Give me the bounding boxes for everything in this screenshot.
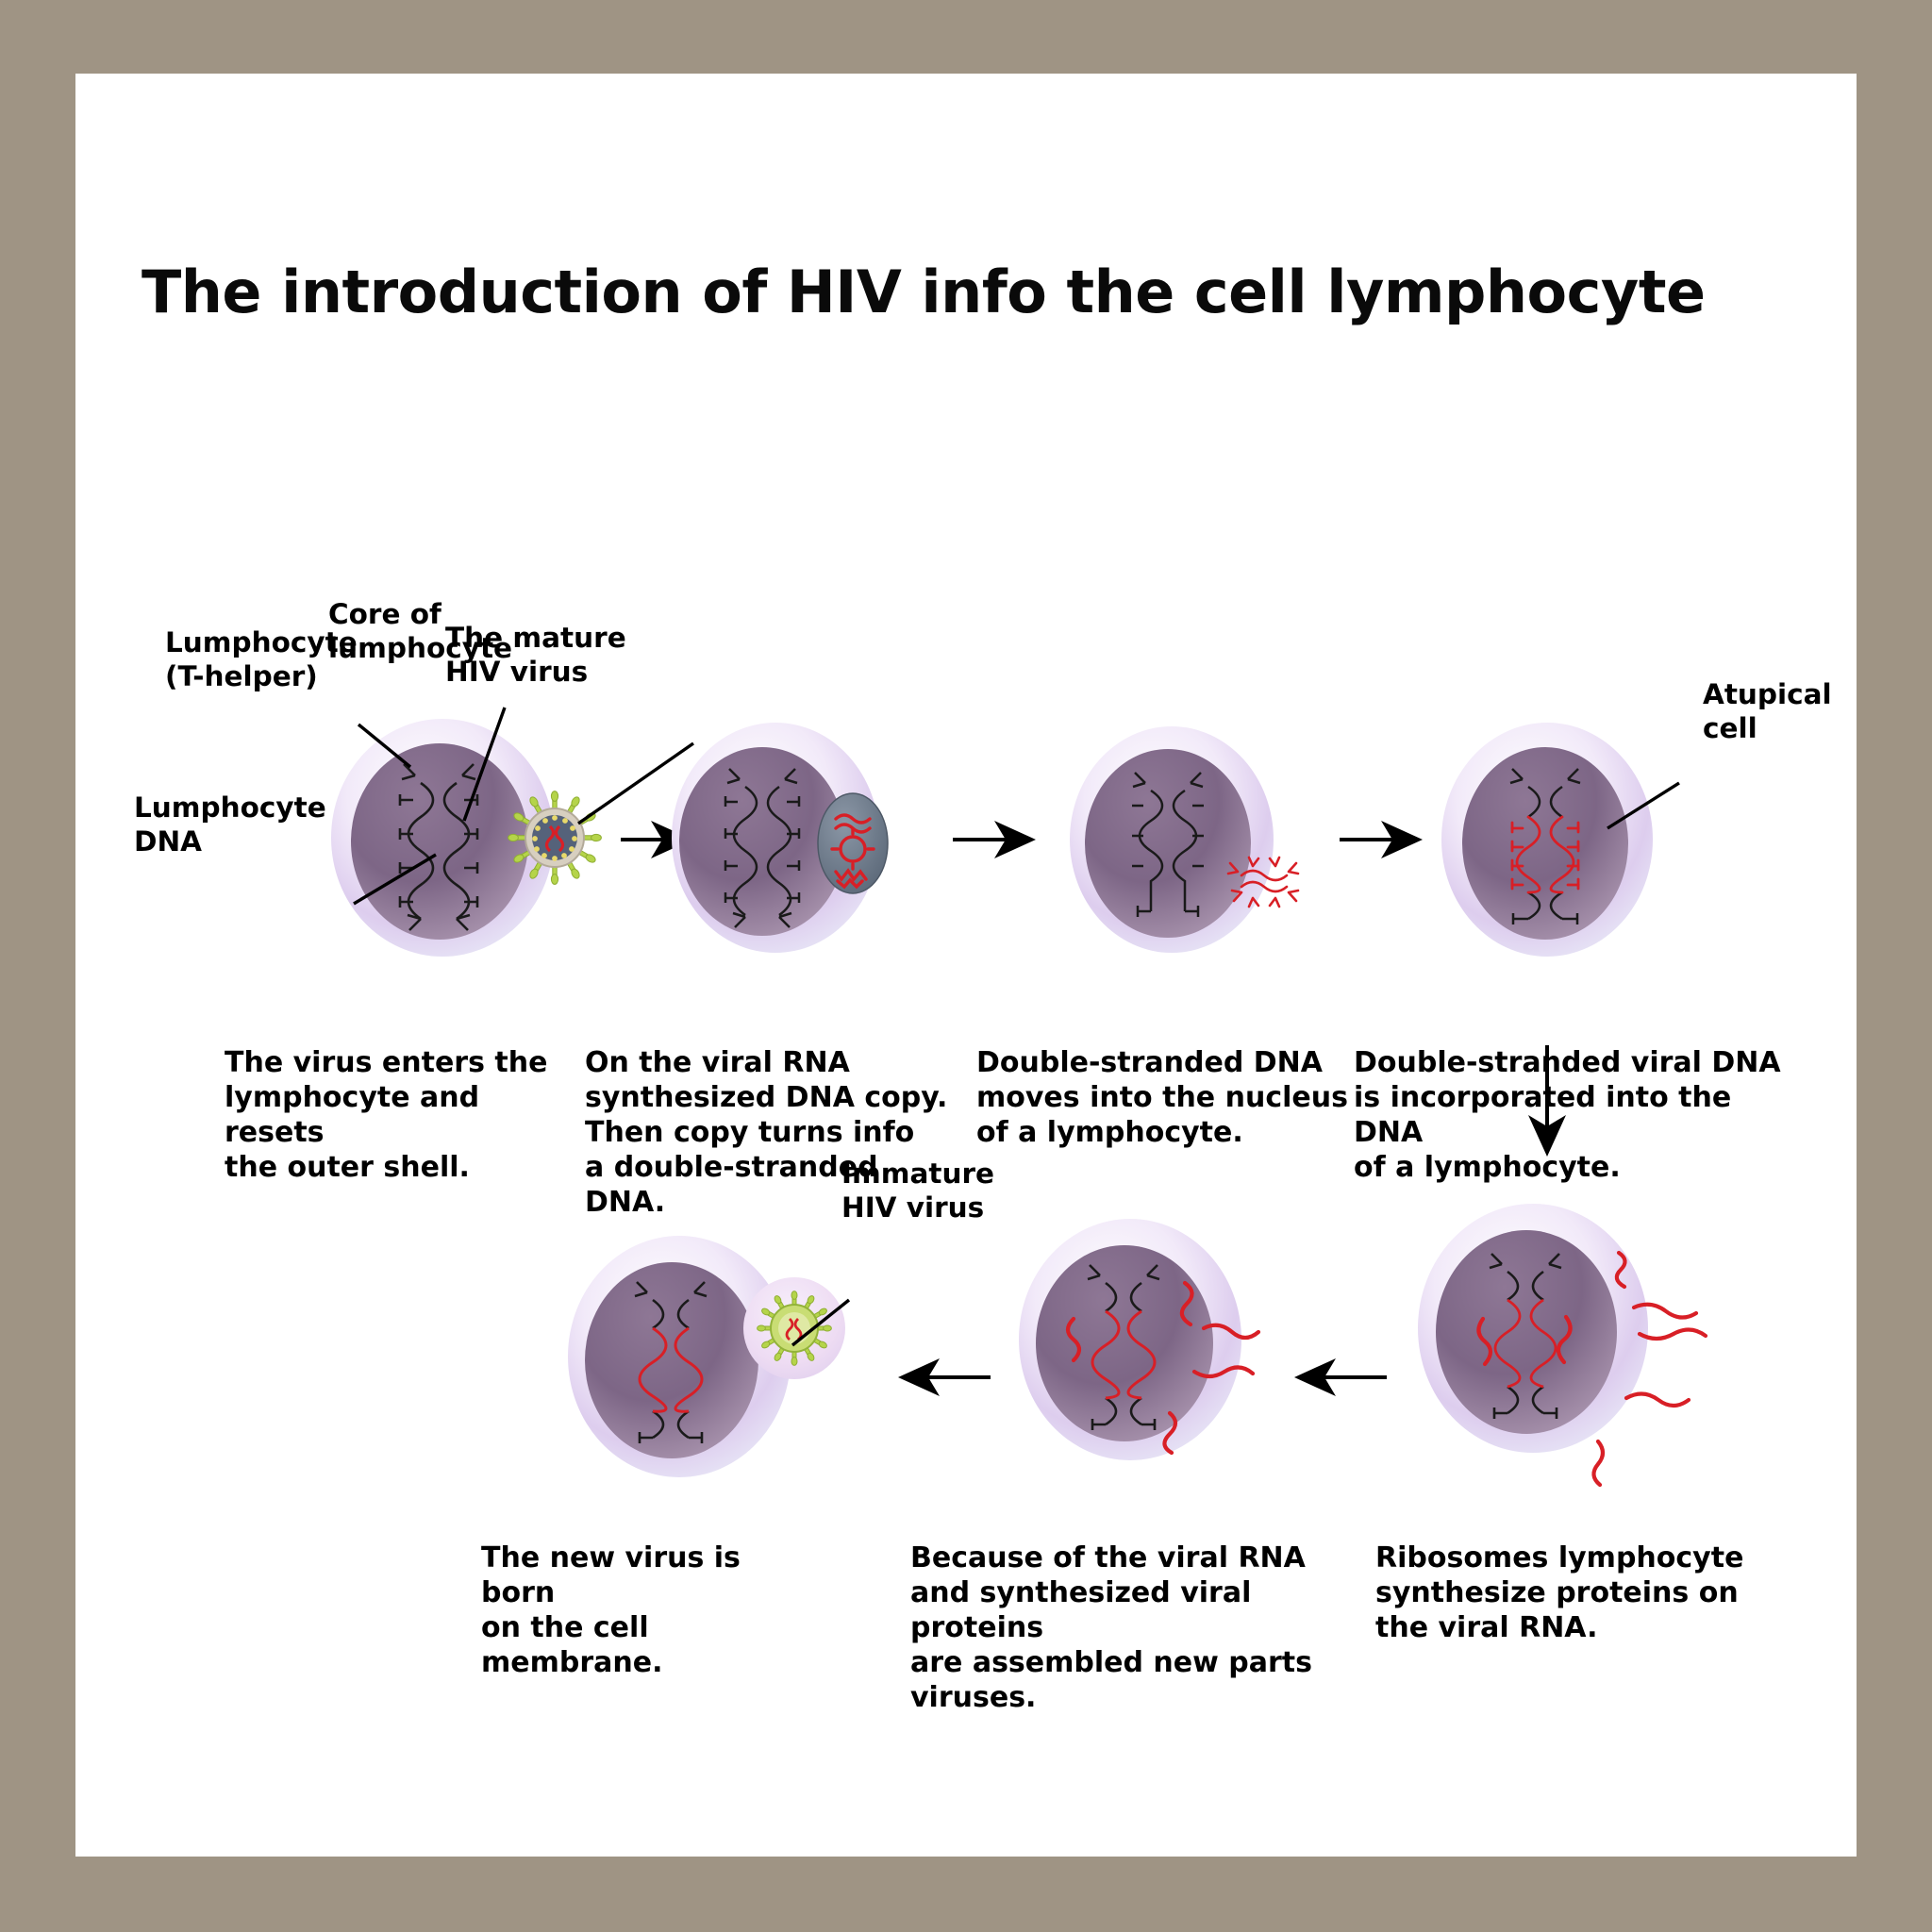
caption-step-6: Because of the viral RNA and synthesized… bbox=[910, 1541, 1373, 1715]
caption-step-4: Double-stranded viral DNA is incorporate… bbox=[1354, 1045, 1797, 1185]
viral-capsid bbox=[818, 793, 888, 893]
step-2-cell bbox=[672, 723, 888, 953]
diagram-canvas: The introduction of HIV info the cell ly… bbox=[75, 74, 1857, 1857]
label-lymphocyte-dna: Lumphocyte DNA bbox=[134, 791, 326, 858]
caption-step-3: Double-stranded DNA moves into the nucle… bbox=[976, 1045, 1354, 1150]
step-7-cell bbox=[568, 1236, 849, 1477]
immature-hiv-virus bbox=[743, 1277, 845, 1379]
label-mature-hiv-virus: The mature HIV virus bbox=[445, 621, 626, 689]
step-1-cell bbox=[331, 719, 601, 957]
label-atypical-cell: Atupical cell bbox=[1703, 677, 1832, 745]
caption-step-1: The virus enters the lymphocyte and rese… bbox=[225, 1045, 583, 1185]
caption-step-5: Ribosomes lymphocyte synthesize proteins… bbox=[1375, 1541, 1753, 1645]
step-5-cell bbox=[1418, 1204, 1706, 1485]
step-3-cell bbox=[1070, 726, 1298, 953]
caption-step-2: On the viral RNA synthesized DNA copy. T… bbox=[585, 1045, 962, 1220]
step-4-cell bbox=[1441, 723, 1679, 957]
step-6-cell bbox=[1019, 1219, 1258, 1460]
caption-step-7: The new virus is born on the cell membra… bbox=[481, 1541, 821, 1680]
